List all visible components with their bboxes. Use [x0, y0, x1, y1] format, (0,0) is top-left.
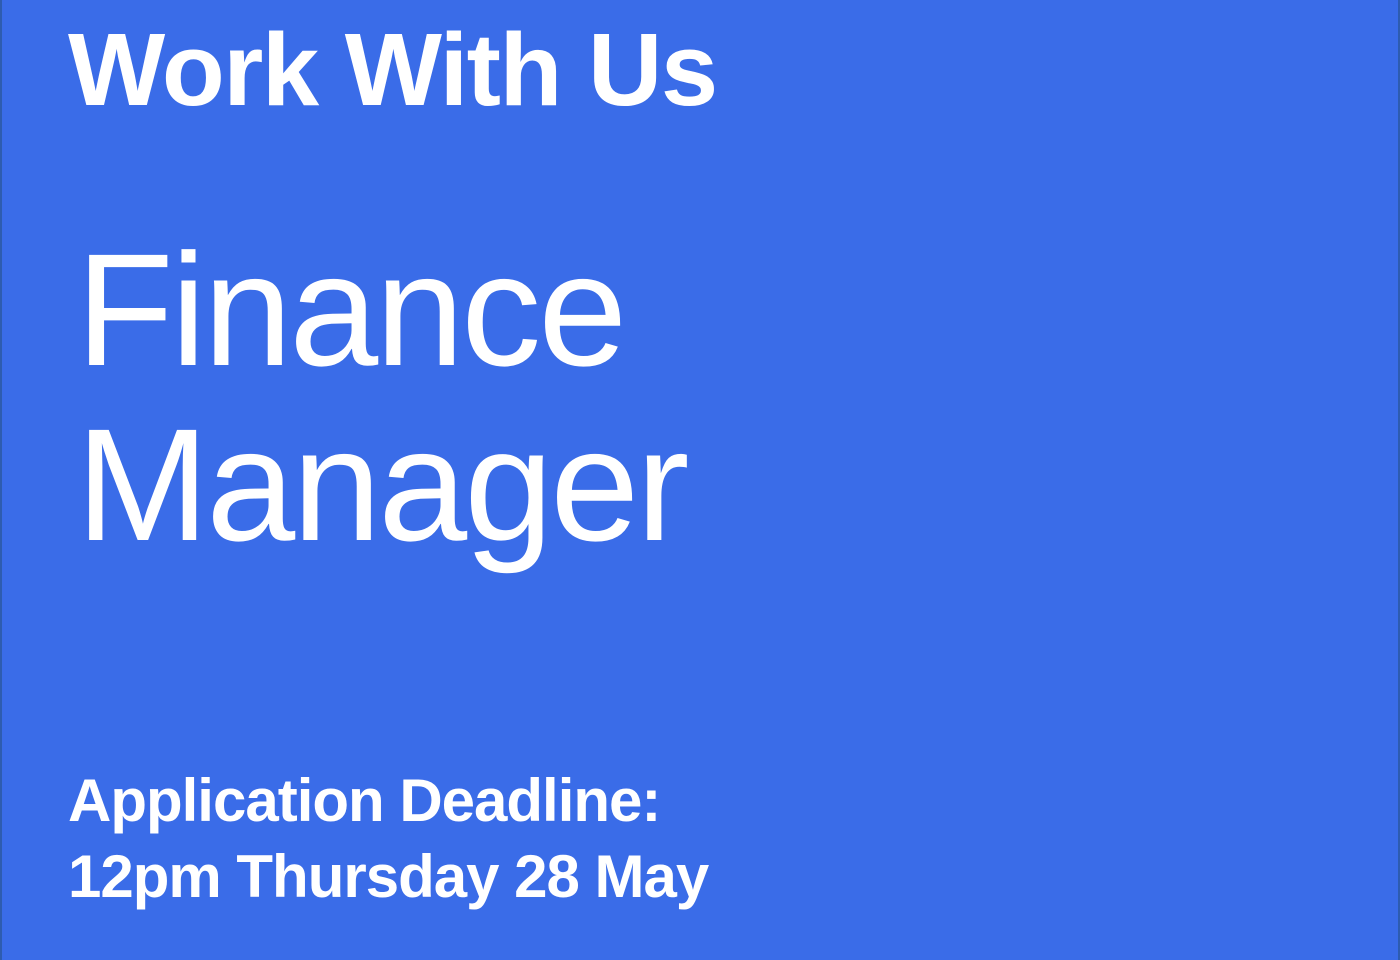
job-advert-poster: Work With Us Finance Manager Application… [0, 0, 1400, 960]
poster-eyebrow: Work With Us [68, 18, 717, 121]
application-deadline: Application Deadline: 12pm Thursday 28 M… [68, 763, 708, 915]
application-deadline-value: 12pm Thursday 28 May [68, 839, 708, 915]
job-title-line-2: Manager [76, 397, 686, 572]
page-title: Finance Manager [76, 222, 686, 572]
application-deadline-label: Application Deadline: [68, 763, 708, 839]
job-title-line-1: Finance [76, 222, 686, 397]
